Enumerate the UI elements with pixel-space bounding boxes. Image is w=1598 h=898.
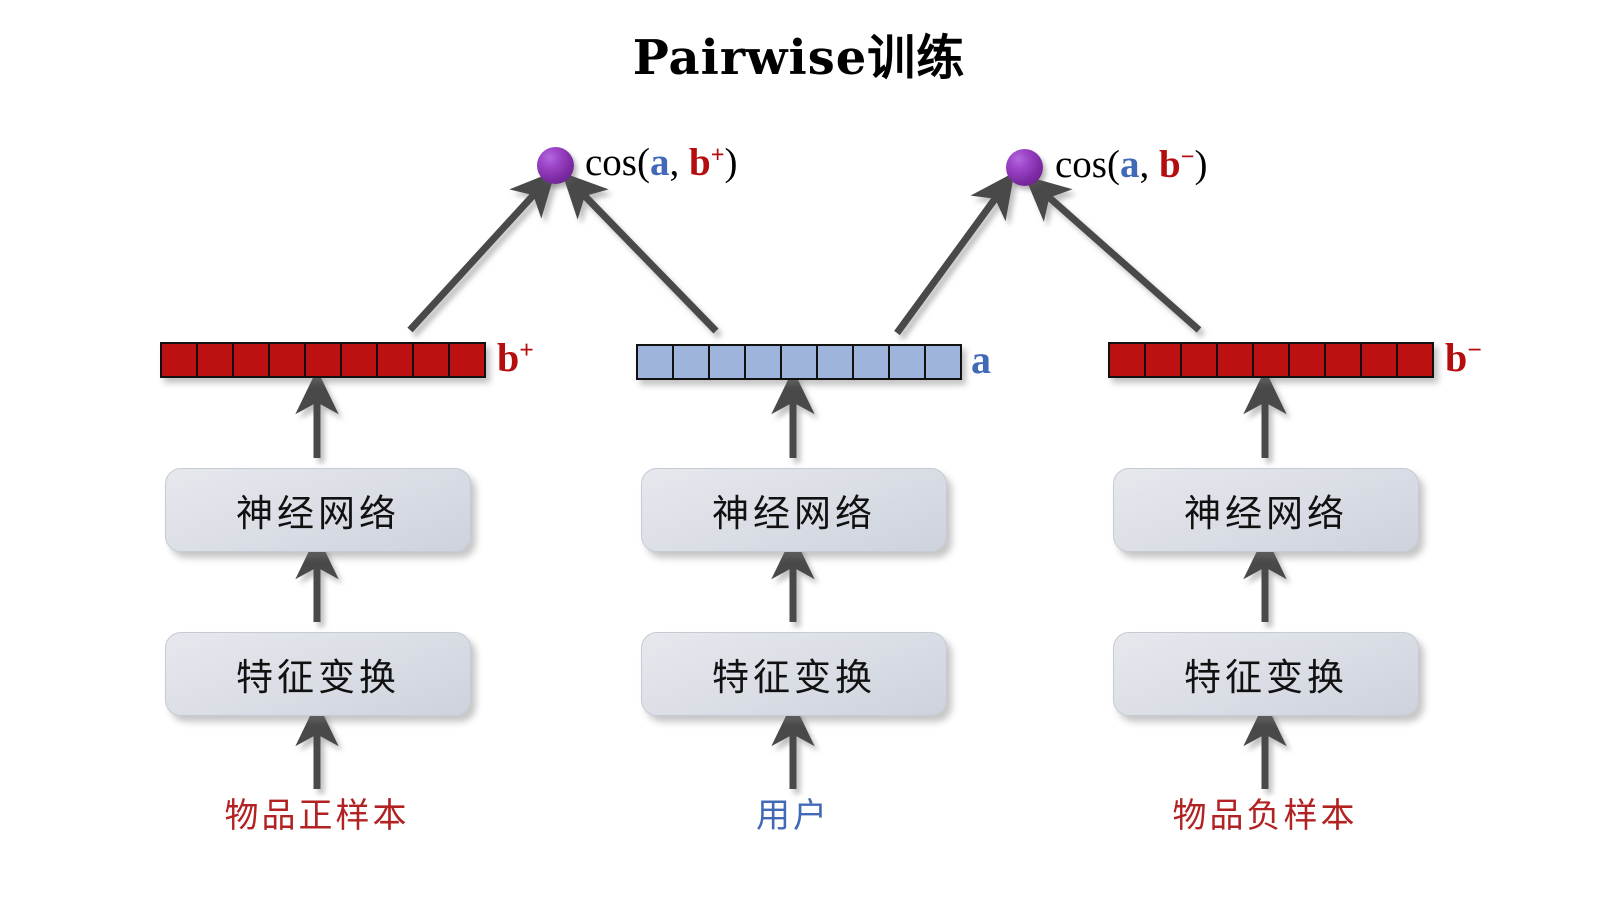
embedding-vector-bplus <box>160 342 486 378</box>
vector-cell <box>1218 344 1254 376</box>
vector-cell <box>1182 344 1218 376</box>
cos-separator: , <box>669 141 689 184</box>
vector-cell <box>746 346 782 378</box>
cos-prefix: cos( <box>1055 143 1120 186</box>
cos-arg-b-base: b <box>689 141 711 184</box>
vector-name-base: a <box>971 337 991 382</box>
vector-cell <box>270 344 306 376</box>
cos-arg-b: b− <box>1159 143 1194 186</box>
vector-cell <box>818 346 854 378</box>
diagram-canvas: Pairwise训练 <box>0 0 1598 898</box>
neural-network-box-col2[interactable]: 神经网络 <box>641 468 947 552</box>
embedding-vector-bminus <box>1108 342 1434 378</box>
negative-score-label: cos(a, b−) <box>1055 145 1207 184</box>
input-label-item-negative: 物品负样本 <box>1115 799 1415 833</box>
feature-transform-label: 特征变换 <box>1184 647 1348 701</box>
cos-arg-a: a <box>650 141 670 184</box>
neural-network-label: 神经网络 <box>712 483 876 537</box>
vector-cell <box>1110 344 1146 376</box>
vector-cell <box>1326 344 1362 376</box>
cos-arg-b: b+ <box>689 141 724 184</box>
page-title: Pairwise训练 <box>0 18 1598 88</box>
embedding-vector-label-bminus: b− <box>1445 337 1482 378</box>
vector-name-superscript: − <box>1467 335 1482 364</box>
cos-prefix: cos( <box>585 141 650 184</box>
positive-score-label: cos(a, b+) <box>585 143 737 182</box>
arrow-a-to-positive-score <box>579 190 716 331</box>
vector-cell <box>782 346 818 378</box>
vector-cell <box>674 346 710 378</box>
vector-name-base: b <box>497 335 519 380</box>
positive-score-node <box>537 147 574 184</box>
embedding-vector-a <box>636 344 962 380</box>
vector-cell <box>638 346 674 378</box>
vector-name-superscript: + <box>519 335 534 364</box>
cos-suffix: ) <box>1194 143 1207 186</box>
cos-arg-a: a <box>1120 143 1140 186</box>
vector-cell <box>306 344 342 376</box>
feature-transform-label: 特征变换 <box>236 647 400 701</box>
vector-cell <box>378 344 414 376</box>
vector-cell <box>1398 344 1432 376</box>
arrow-bminus-to-negative-score <box>1043 192 1199 330</box>
neural-network-label: 神经网络 <box>236 483 400 537</box>
input-label-item-positive: 物品正样本 <box>167 799 467 833</box>
embedding-vector-label-a: a <box>971 339 991 380</box>
vector-cell <box>1362 344 1398 376</box>
feature-transform-label: 特征变换 <box>712 647 876 701</box>
cos-arg-b-superscript: − <box>1181 143 1195 170</box>
embedding-vector-label-bplus: b+ <box>497 337 534 378</box>
cos-separator: , <box>1139 143 1159 186</box>
vector-cell <box>1290 344 1326 376</box>
vector-cell <box>234 344 270 376</box>
negative-score-node <box>1006 149 1043 186</box>
cos-arg-b-base: b <box>1159 143 1181 186</box>
neural-network-label: 神经网络 <box>1184 483 1348 537</box>
feature-transform-box-col2[interactable]: 特征变换 <box>641 632 947 716</box>
vector-cell <box>162 344 198 376</box>
vector-cell <box>710 346 746 378</box>
vector-name-base: b <box>1445 335 1467 380</box>
feature-transform-box-col1[interactable]: 特征变换 <box>165 632 471 716</box>
vector-cell <box>1254 344 1290 376</box>
arrow-bplus-to-positive-score <box>410 189 539 330</box>
vector-cell <box>926 346 960 378</box>
cos-arg-b-superscript: + <box>711 141 725 168</box>
vector-cell <box>1146 344 1182 376</box>
arrow-a-to-negative-score <box>897 192 1000 333</box>
neural-network-box-col1[interactable]: 神经网络 <box>165 468 471 552</box>
feature-transform-box-col3[interactable]: 特征变换 <box>1113 632 1419 716</box>
cos-suffix: ) <box>724 141 737 184</box>
arrow-layer <box>0 0 1598 898</box>
vector-cell <box>854 346 890 378</box>
vector-cell <box>890 346 926 378</box>
input-label-user: 用户 <box>643 799 943 833</box>
vector-cell <box>414 344 450 376</box>
vector-cell <box>450 344 484 376</box>
vector-cell <box>342 344 378 376</box>
vector-cell <box>198 344 234 376</box>
neural-network-box-col3[interactable]: 神经网络 <box>1113 468 1419 552</box>
